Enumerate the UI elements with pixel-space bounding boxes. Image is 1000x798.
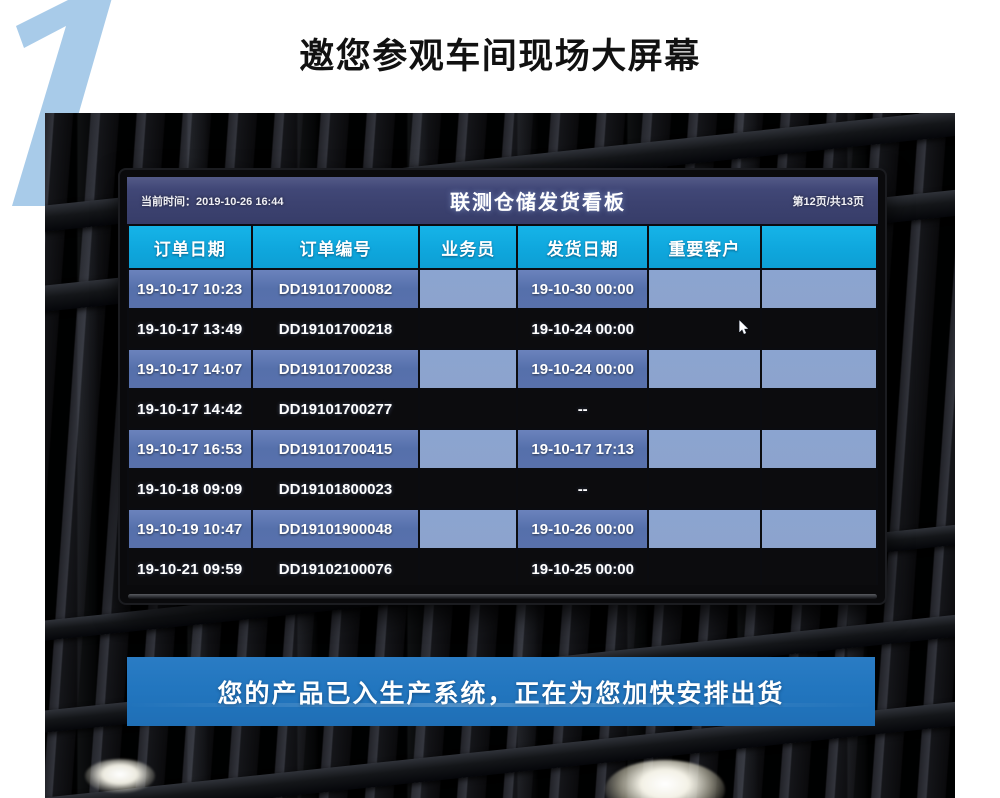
cell-order-date: 19-10-18 09:09 [129, 470, 251, 508]
caption-banner-text: 您的产品已入生产系统，正在为您加快安排出货 [217, 674, 784, 710]
cell-salesperson [420, 310, 516, 348]
cell-salesperson [420, 550, 516, 585]
cell-extra [762, 430, 876, 468]
cell-ship-date: 19-10-26 00:00 [518, 510, 647, 548]
column-header-salesperson[interactable]: 业务员 [420, 226, 516, 268]
table-row[interactable]: 19-10-17 10:23DD1910170008219-10-30 00:0… [129, 270, 876, 308]
cell-extra [762, 350, 876, 388]
cell-order-date: 19-10-17 10:23 [129, 270, 251, 308]
cell-vip [649, 430, 760, 468]
cell-order-no: DD19101900048 [253, 510, 419, 548]
cell-vip [649, 390, 760, 428]
table-row[interactable]: 19-10-17 14:42DD19101700277-- [129, 390, 876, 428]
cell-vip [649, 270, 760, 308]
wall-mounted-tv: 当前时间：2019-10-26 16:44 联测仓储发货看板 第12页/共13页… [120, 170, 885, 603]
cell-order-date: 19-10-17 13:49 [129, 310, 251, 348]
cell-order-no: DD19101700277 [253, 390, 419, 428]
table-row[interactable]: 19-10-19 10:47DD1910190004819-10-26 00:0… [129, 510, 876, 548]
column-header-vip[interactable]: 重要客户 [649, 226, 760, 268]
cell-extra [762, 310, 876, 348]
cell-extra [762, 270, 876, 308]
page-title: 邀您参观车间现场大屏幕 [0, 28, 1000, 79]
dashboard-title: 联测仓储发货看板 [283, 186, 792, 215]
cell-order-date: 19-10-17 14:07 [129, 350, 251, 388]
cell-ship-date: -- [518, 470, 647, 508]
cell-order-date: 19-10-17 14:42 [129, 390, 251, 428]
ceiling-lamp [85, 759, 155, 793]
column-header-order-date[interactable]: 订单日期 [129, 226, 251, 268]
cell-ship-date: 19-10-25 00:00 [518, 550, 647, 585]
table-header-row: 订单日期 订单编号 业务员 发货日期 重要客户 [129, 226, 876, 268]
cell-salesperson [420, 390, 516, 428]
cell-ship-date: -- [518, 390, 647, 428]
cell-order-date: 19-10-17 16:53 [129, 430, 251, 468]
cell-ship-date: 19-10-24 00:00 [518, 350, 647, 388]
cell-order-no: DD19101700218 [253, 310, 419, 348]
cell-vip [649, 310, 760, 348]
cell-ship-date: 19-10-30 00:00 [518, 270, 647, 308]
table-row[interactable]: 19-10-18 09:09DD19101800023-- [129, 470, 876, 508]
column-header-extra[interactable] [762, 226, 876, 268]
caption-banner: 您的产品已入生产系统，正在为您加快安排出货 [127, 657, 875, 726]
cell-order-date: 19-10-19 10:47 [129, 510, 251, 548]
cell-salesperson [420, 350, 516, 388]
table-row[interactable]: 19-10-21 09:59DD1910210007619-10-25 00:0… [129, 550, 876, 585]
page-indicator: 第12页/共13页 [792, 193, 864, 209]
cell-extra [762, 550, 876, 585]
current-time-label: 当前时间：2019-10-26 16:44 [141, 193, 283, 209]
table-head: 订单日期 订单编号 业务员 发货日期 重要客户 [129, 226, 876, 268]
cell-salesperson [420, 270, 516, 308]
cell-order-no: DD19101700415 [253, 430, 419, 468]
cell-ship-date: 19-10-17 17:13 [518, 430, 647, 468]
workshop-photo: 当前时间：2019-10-26 16:44 联测仓储发货看板 第12页/共13页… [45, 113, 955, 798]
cell-order-no: DD19101800023 [253, 470, 419, 508]
column-header-order-no[interactable]: 订单编号 [253, 226, 419, 268]
cell-vip [649, 350, 760, 388]
cell-salesperson [420, 510, 516, 548]
cell-vip [649, 470, 760, 508]
table-row[interactable]: 19-10-17 14:07DD1910170023819-10-24 00:0… [129, 350, 876, 388]
cell-extra [762, 390, 876, 428]
cell-order-no: DD19101700238 [253, 350, 419, 388]
cell-order-no: DD19101700082 [253, 270, 419, 308]
table-row[interactable]: 19-10-17 13:49DD1910170021819-10-24 00:0… [129, 310, 876, 348]
dashboard-header: 当前时间：2019-10-26 16:44 联测仓储发货看板 第12页/共13页 [127, 177, 878, 224]
column-header-ship-date[interactable]: 发货日期 [518, 226, 647, 268]
cell-vip [649, 550, 760, 585]
shipment-board-table: 订单日期 订单编号 业务员 发货日期 重要客户 19-10-17 10:23DD… [127, 224, 878, 585]
cell-salesperson [420, 470, 516, 508]
tv-screen: 当前时间：2019-10-26 16:44 联测仓储发货看板 第12页/共13页… [127, 177, 878, 585]
table-body: 19-10-17 10:23DD1910170008219-10-30 00:0… [129, 270, 876, 585]
table-row[interactable]: 19-10-17 16:53DD1910170041519-10-17 17:1… [129, 430, 876, 468]
cell-order-no: DD19102100076 [253, 550, 419, 585]
cell-extra [762, 470, 876, 508]
cell-salesperson [420, 430, 516, 468]
cell-vip [649, 510, 760, 548]
cell-ship-date: 19-10-24 00:00 [518, 310, 647, 348]
cell-extra [762, 510, 876, 548]
cell-order-date: 19-10-21 09:59 [129, 550, 251, 585]
